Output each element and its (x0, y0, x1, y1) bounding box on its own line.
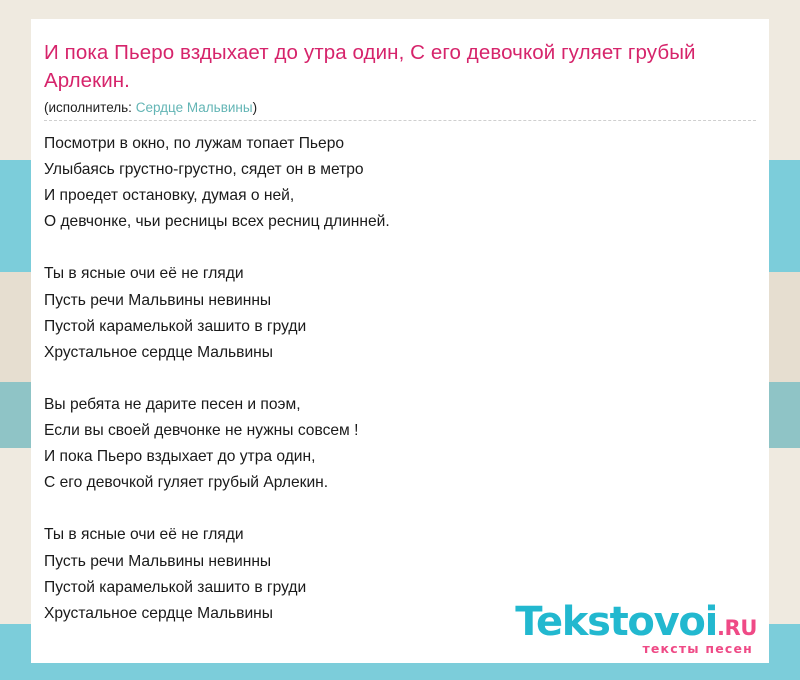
lyrics-line: О девчонке, чьи ресницы всех ресниц длин… (44, 209, 744, 235)
lyrics-line: Если вы своей девчонке не нужны совсем ! (44, 418, 744, 444)
lyrics-line: Пустой карамелькой зашито в груди (44, 314, 744, 340)
lyrics-line: Посмотри в окно, по лужам топает Пьеро (44, 131, 744, 157)
lyrics-line: С его девочкой гуляет грубый Арлекин. (44, 470, 744, 496)
lyrics-line: И пока Пьеро вздыхает до утра один, (44, 444, 744, 470)
artist-label: (исполнитель: (44, 100, 132, 115)
page-title: И пока Пьеро вздыхает до утра один, С ег… (44, 39, 744, 95)
lyrics-line: Вы ребята не дарите песен и поэм, (44, 392, 744, 418)
lyrics-line: Улыбаясь грустно-грустно, сядет он в мет… (44, 157, 744, 183)
title-separator (44, 120, 756, 121)
artist-link[interactable]: Сердце Мальвины (136, 100, 253, 115)
artist-line: (исполнитель: Сердце Мальвины) (44, 99, 257, 117)
lyrics-line: Ты в ясные очи её не гляди (44, 261, 744, 287)
lyrics-line: Хрустальное сердце Мальвины (44, 340, 744, 366)
lyrics-line: Пусть речи Мальвины невинны (44, 288, 744, 314)
lyrics-verse: Ты в ясные очи её не глядиПусть речи Мал… (44, 261, 744, 365)
logo-tld: .RU (717, 618, 757, 639)
logo-wordmark: Tekstovoi (515, 602, 717, 642)
lyrics-content-card: И пока Пьеро вздыхает до утра один, С ег… (31, 19, 769, 663)
site-logo[interactable]: Tekstovoi.RU тексты песен (515, 602, 757, 656)
lyrics-verse: Посмотри в окно, по лужам топает ПьероУл… (44, 131, 744, 235)
lyrics-body: Посмотри в окно, по лужам топает ПьероУл… (44, 131, 744, 653)
logo-row: Tekstovoi.RU (515, 602, 757, 642)
lyrics-line: И проедет остановку, думая о ней, (44, 183, 744, 209)
artist-close-paren: ) (253, 100, 258, 115)
lyrics-line: Пустой карамелькой зашито в груди (44, 575, 744, 601)
lyrics-verse: Вы ребята не дарите песен и поэм,Если вы… (44, 392, 744, 496)
lyrics-line: Пусть речи Мальвины невинны (44, 549, 744, 575)
lyrics-line: Ты в ясные очи её не гляди (44, 522, 744, 548)
